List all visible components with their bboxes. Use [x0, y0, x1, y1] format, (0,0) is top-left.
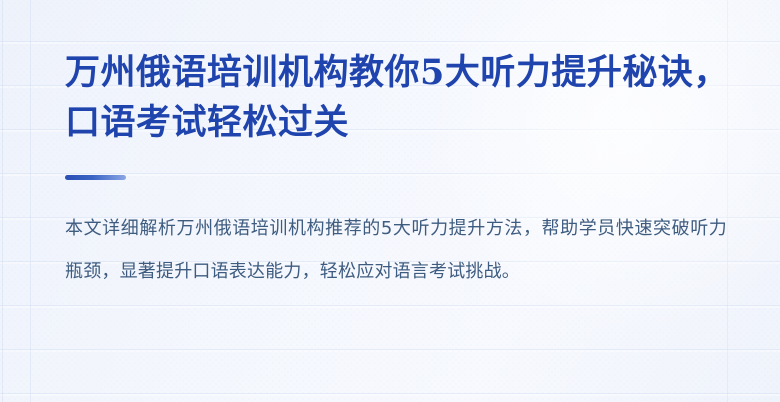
page-title: 万州俄语培训机构教你5大听力提升秘诀，口语考试轻松过关	[65, 0, 730, 148]
page-description: 本文详细解析万州俄语培训机构推荐的5大听力提升方法，帮助学员快速突破听力瓶颈，显…	[65, 180, 727, 293]
article-hero-banner: 万州俄语培训机构教你5大听力提升秘诀，口语考试轻松过关 本文详细解析万州俄语培训…	[0, 0, 780, 402]
hero-content: 万州俄语培训机构教你5大听力提升秘诀，口语考试轻松过关 本文详细解析万州俄语培训…	[0, 0, 780, 293]
